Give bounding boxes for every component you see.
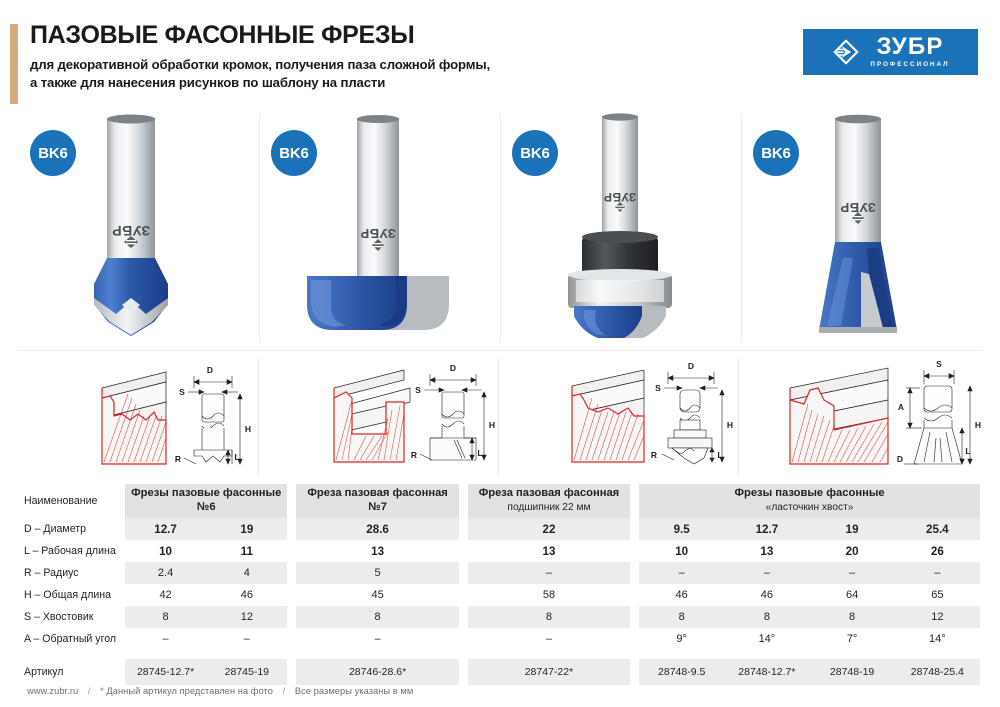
rectangular-groove-diagram: D S H L R (258, 358, 498, 476)
cell-gap (116, 540, 125, 562)
svg-text:R: R (651, 450, 657, 460)
article-cell: 28746-28.6* (296, 659, 459, 685)
zubr-arrow-diamond-icon (831, 37, 861, 67)
cell-gap (287, 562, 296, 584)
cell-gap (459, 562, 468, 584)
cell: 42 (125, 584, 206, 606)
dovetail-diagram: S A H L D (738, 358, 988, 476)
cell: 8 (125, 606, 206, 628)
cell: 9° (639, 628, 724, 650)
bk6-badge-4: BK6 (753, 130, 799, 176)
footer: www.zubr.ru / * Данный артикул представл… (27, 686, 413, 696)
article-cell: 28745-12.7* (125, 659, 206, 685)
spacer-cell (22, 650, 980, 659)
cell: 26 (895, 540, 980, 562)
group-4-subtitle: «ласточкин хвост» (643, 502, 976, 514)
profile-groove-diagram: D S H L R (18, 358, 258, 476)
row-label: A – Обратный угол (22, 628, 116, 650)
svg-text:S: S (179, 387, 185, 397)
product-photo-1: BK6 (18, 108, 259, 348)
subtitle-line-1: для декоративной обработки кромок, получ… (30, 56, 730, 75)
cell: 14° (724, 628, 809, 650)
cell-gap (630, 628, 639, 650)
svg-text:ЗУБР: ЗУБР (360, 226, 396, 241)
cell: 19 (206, 518, 287, 540)
bearing-profile-diagram: D S H L R (498, 358, 738, 476)
article-cell: 28745-19 (206, 659, 287, 685)
table-row: R – Радиус 2.4 4 5 – – – – – (22, 562, 980, 584)
technical-diagram-strip: D S H L R (18, 356, 982, 478)
svg-text:D: D (450, 363, 456, 373)
cell: 22 (468, 518, 631, 540)
diagram-cell-1: D S H L R (18, 356, 258, 478)
cell: 13 (296, 540, 459, 562)
cell: 5 (296, 562, 459, 584)
cell: – (125, 628, 206, 650)
cell-gap (459, 659, 468, 685)
svg-text:S: S (415, 385, 421, 395)
article-cell: 28748-19 (809, 659, 894, 685)
group-4-title: Фрезы пазовые фасонные (734, 487, 884, 499)
page-title: ПАЗОВЫЕ ФАСОННЫЕ ФРЕЗЫ (30, 22, 730, 49)
table-spacer-row (22, 650, 980, 659)
cell-gap (459, 628, 468, 650)
cell: – (468, 628, 631, 650)
product-photo-strip: BK6 (18, 108, 982, 348)
cell-gap (116, 628, 125, 650)
group-header-2: Фреза пазовая фасонная №7 (296, 484, 459, 518)
header-text-block: ПАЗОВЫЕ ФАСОННЫЕ ФРЕЗЫ для декоративной … (30, 22, 730, 93)
cell-gap (459, 606, 468, 628)
footer-units-note: Все размеры указаны в мм (295, 686, 413, 696)
table-row: D – Диаметр 12.7 19 28.6 22 9.5 12.7 19 … (22, 518, 980, 540)
cell-gap (287, 540, 296, 562)
cell-gap (287, 659, 296, 685)
cell: 19 (809, 518, 894, 540)
cell: 8 (809, 606, 894, 628)
row-label: H – Общая длина (22, 584, 116, 606)
group-3-subtitle: подшипник 22 мм (472, 502, 627, 514)
svg-text:L: L (477, 448, 482, 458)
table-row: A – Обратный угол – – – – 9° 14° 7° 14° (22, 628, 980, 650)
product-photo-4: BK6 (741, 108, 982, 348)
cell: 12.7 (724, 518, 809, 540)
cell-gap (630, 540, 639, 562)
article-cell: 28748-12.7* (724, 659, 809, 685)
cell: 4 (206, 562, 287, 584)
cell: 28.6 (296, 518, 459, 540)
subtitle-line-2: а также для нанесения рисунков по шаблон… (30, 74, 730, 93)
row-label: S – Хвостовик (22, 606, 116, 628)
cell: – (468, 562, 631, 584)
footer-separator-2: / (283, 686, 286, 696)
header-gap-4 (630, 484, 639, 518)
article-cell: 28747-22* (468, 659, 631, 685)
cell: – (895, 562, 980, 584)
diagram-cell-3: D S H L R (498, 356, 738, 478)
cell-gap (116, 584, 125, 606)
header-gap-2 (287, 484, 296, 518)
cell: 7° (809, 628, 894, 650)
svg-text:S: S (936, 359, 942, 369)
group-header-1: Фрезы пазовые фасонные №6 (125, 484, 288, 518)
cell: 12 (206, 606, 287, 628)
cell: 9.5 (639, 518, 724, 540)
svg-text:L: L (965, 446, 970, 456)
svg-text:D: D (688, 361, 694, 371)
photo-diagram-divider (18, 350, 982, 351)
svg-text:R: R (411, 450, 417, 460)
footer-separator-1: / (88, 686, 91, 696)
article-cell: 28748-9.5 (639, 659, 724, 685)
article-cell: 28748-25.4 (895, 659, 980, 685)
cell-gap (116, 562, 125, 584)
page-subtitle: для декоративной обработки кромок, получ… (30, 56, 730, 93)
svg-text:R: R (175, 454, 181, 464)
header-gap-1 (116, 484, 125, 518)
cell: 64 (809, 584, 894, 606)
cell: 14° (895, 628, 980, 650)
cell: – (724, 562, 809, 584)
row-label: R – Радиус (22, 562, 116, 584)
cell-gap (630, 659, 639, 685)
row-label: L – Рабочая длина (22, 540, 116, 562)
table-row: H – Общая длина 42 46 45 58 46 46 64 65 (22, 584, 980, 606)
diagram-cell-2: D S H L R (258, 356, 498, 478)
group-header-3: Фреза пазовая фасонная подшипник 22 мм (468, 484, 631, 518)
brand-logo: ЗУБР ПРОФЕССИОНАЛ (803, 29, 978, 75)
bk6-badge-3: BK6 (512, 130, 558, 176)
table-body: D – Диаметр 12.7 19 28.6 22 9.5 12.7 19 … (22, 518, 980, 685)
cell: – (206, 628, 287, 650)
group-header-4: Фрезы пазовые фасонные «ласточкин хвост» (639, 484, 980, 518)
cell: 46 (724, 584, 809, 606)
cell: 11 (206, 540, 287, 562)
product-photo-3: BK6 (500, 108, 741, 348)
cell: 10 (639, 540, 724, 562)
cell: – (809, 562, 894, 584)
svg-text:D: D (207, 365, 213, 375)
cell: 46 (206, 584, 287, 606)
cell: 8 (468, 606, 631, 628)
cell-gap (459, 518, 468, 540)
cell-gap (630, 584, 639, 606)
header-gap-3 (459, 484, 468, 518)
row-label: D – Диаметр (22, 518, 116, 540)
article-row: Артикул 28745-12.7* 28745-19 28746-28.6*… (22, 659, 980, 685)
cell-gap (630, 562, 639, 584)
cell: 45 (296, 584, 459, 606)
cell-gap (287, 628, 296, 650)
cell: – (639, 562, 724, 584)
cell: 8 (296, 606, 459, 628)
svg-text:L: L (234, 452, 239, 462)
logo-brand-text: ЗУБР (876, 35, 943, 59)
group-3-title: Фреза пазовая фасонная (479, 487, 620, 499)
cell: 8 (639, 606, 724, 628)
cell-gap (287, 584, 296, 606)
table-header-row: Наименование Фрезы пазовые фасонные №6 Ф… (22, 484, 980, 518)
logo-wordmark: ЗУБР ПРОФЕССИОНАЛ (870, 35, 949, 68)
bk6-badge-2: BK6 (271, 130, 317, 176)
table-row: S – Хвостовик 8 12 8 8 8 8 8 12 (22, 606, 980, 628)
cell: 13 (468, 540, 631, 562)
footer-website[interactable]: www.zubr.ru (27, 686, 78, 696)
cell: 2.4 (125, 562, 206, 584)
cell-gap (459, 540, 468, 562)
svg-text:H: H (245, 424, 251, 434)
group-2-title: Фреза пазовая фасонная №7 (307, 487, 448, 513)
header-accent-bar (10, 24, 18, 104)
cell-gap (630, 606, 639, 628)
cell: 46 (639, 584, 724, 606)
cell: 10 (125, 540, 206, 562)
cell: 25.4 (895, 518, 980, 540)
svg-text:S: S (655, 383, 661, 393)
svg-text:H: H (727, 420, 733, 430)
diagram-cell-4: S A H L D (738, 356, 988, 478)
cell: 12 (895, 606, 980, 628)
svg-text:ЗУБР: ЗУБР (603, 190, 636, 204)
cell: 65 (895, 584, 980, 606)
cell: 12.7 (125, 518, 206, 540)
cell-gap (116, 518, 125, 540)
svg-text:H: H (975, 420, 981, 430)
cell: – (296, 628, 459, 650)
specifications-table: Наименование Фрезы пазовые фасонные №6 Ф… (22, 484, 980, 685)
bk6-badge-1: BK6 (30, 130, 76, 176)
article-row-label: Артикул (22, 659, 116, 685)
cell: 8 (724, 606, 809, 628)
logo-tagline-text: ПРОФЕССИОНАЛ (870, 62, 949, 68)
cell: 13 (724, 540, 809, 562)
cell: 20 (809, 540, 894, 562)
cell-gap (116, 606, 125, 628)
svg-text:L: L (717, 450, 722, 460)
row-label-header: Наименование (22, 484, 116, 518)
group-1-title: Фрезы пазовые фасонные №6 (131, 487, 281, 513)
cell-gap (287, 518, 296, 540)
table-row: L – Рабочая длина 10 11 13 13 10 13 20 2… (22, 540, 980, 562)
cell-gap (287, 606, 296, 628)
footer-article-note: * Данный артикул представлен на фото (100, 686, 273, 696)
datasheet-page: ПАЗОВЫЕ ФАСОННЫЕ ФРЕЗЫ для декоративной … (0, 0, 1000, 707)
svg-text:A: A (898, 402, 904, 412)
cell: 58 (468, 584, 631, 606)
cell-gap (116, 659, 125, 685)
cell-gap (459, 584, 468, 606)
product-photo-2: BK6 (259, 108, 500, 348)
svg-text:D: D (897, 454, 903, 464)
svg-text:H: H (489, 420, 495, 430)
cell-gap (630, 518, 639, 540)
